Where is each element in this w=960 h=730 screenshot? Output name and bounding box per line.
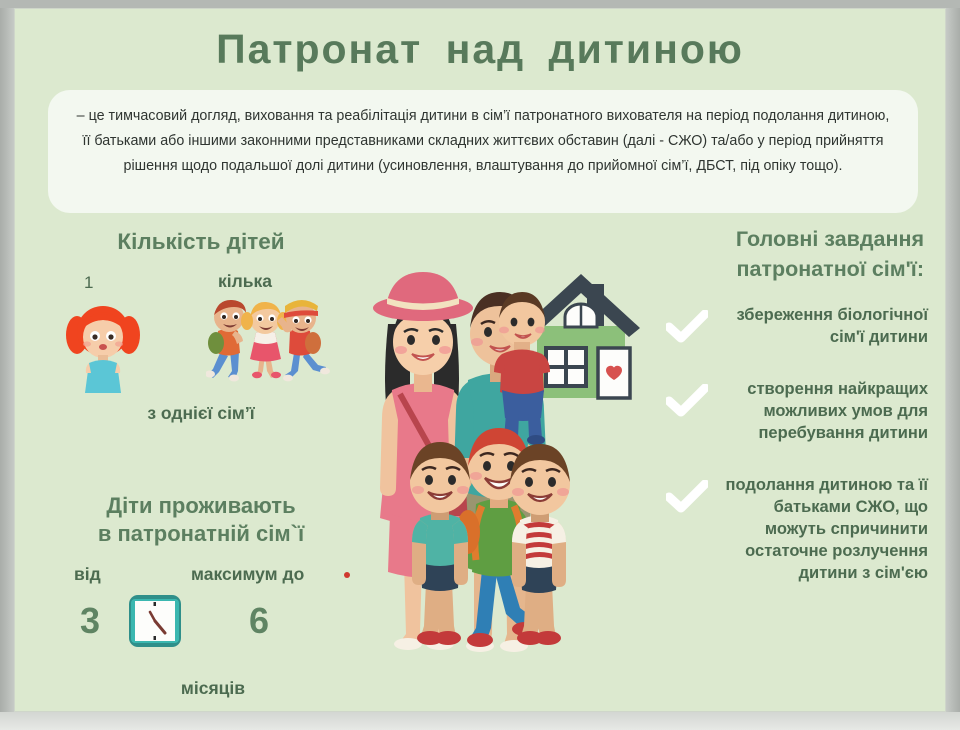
tasks-heading: Головні завдання патронатної сім'ї: [660, 224, 928, 284]
tasks-heading-line2: патронатної сім'ї: [736, 257, 924, 281]
page-title: Патронат над дитиною [0, 26, 960, 73]
frame-edge-top [0, 0, 960, 8]
frame-edge-right [946, 0, 960, 730]
infographic-poster: Патронат над дитиною – це тимчасовий дог… [0, 0, 960, 730]
children-count-row: 1 кілька [36, 273, 366, 393]
task-item: збереження біологічної сім'ї дитини [660, 304, 928, 352]
duration-heading-line2: в патронатній сім`ї [98, 521, 304, 546]
clock-icon [126, 592, 184, 650]
family-with-house-illustration [360, 262, 660, 682]
frame-edge-bottom [0, 712, 960, 730]
from-one-family-label: з однієї сім’ї [36, 403, 366, 424]
check-icon [666, 384, 708, 418]
label-max: максимум до [191, 564, 304, 585]
three-children-icon [206, 295, 332, 387]
frame-edge-left [0, 0, 14, 730]
duration-max-value: 6 [249, 600, 269, 642]
task-label: подолання дитиною та її батьками СЖО, що… [718, 474, 928, 584]
duration-min-value: 3 [80, 600, 100, 642]
section-children-count: Кількість дітей 1 кілька [36, 228, 366, 424]
label-from: від [74, 564, 101, 585]
section-tasks: Головні завдання патронатної сім'ї: збер… [660, 224, 928, 584]
task-label: збереження біологічної сім'ї дитини [718, 304, 928, 348]
label-one: 1 [84, 273, 93, 293]
definition-card: – це тимчасовий догляд, виховання та реа… [48, 90, 918, 213]
girl-icon [60, 299, 146, 393]
task-item: створення найкращих можливих умов для пе… [660, 378, 928, 444]
three-boys-figure [410, 428, 570, 647]
section-duration: Діти проживають в патронатній сім`ї від … [36, 492, 366, 699]
red-dot-marker [344, 572, 350, 578]
duration-row: від максимум до 3 6 [36, 564, 366, 674]
task-item: подолання дитиною та її батьками СЖО, що… [660, 474, 928, 584]
check-icon [666, 310, 708, 344]
task-label: створення найкращих можливих умов для пе… [718, 378, 928, 444]
definition-text: – це тимчасовий догляд, виховання та реа… [74, 104, 892, 179]
tasks-heading-line1: Головні завдання [736, 227, 924, 251]
duration-unit-label: місяців [36, 678, 366, 699]
duration-heading: Діти проживають в патронатній сім`ї [36, 492, 366, 548]
label-several: кілька [218, 271, 272, 292]
check-icon [666, 480, 708, 514]
duration-heading-line1: Діти проживають [106, 493, 295, 518]
children-count-heading: Кількість дітей [36, 228, 366, 255]
